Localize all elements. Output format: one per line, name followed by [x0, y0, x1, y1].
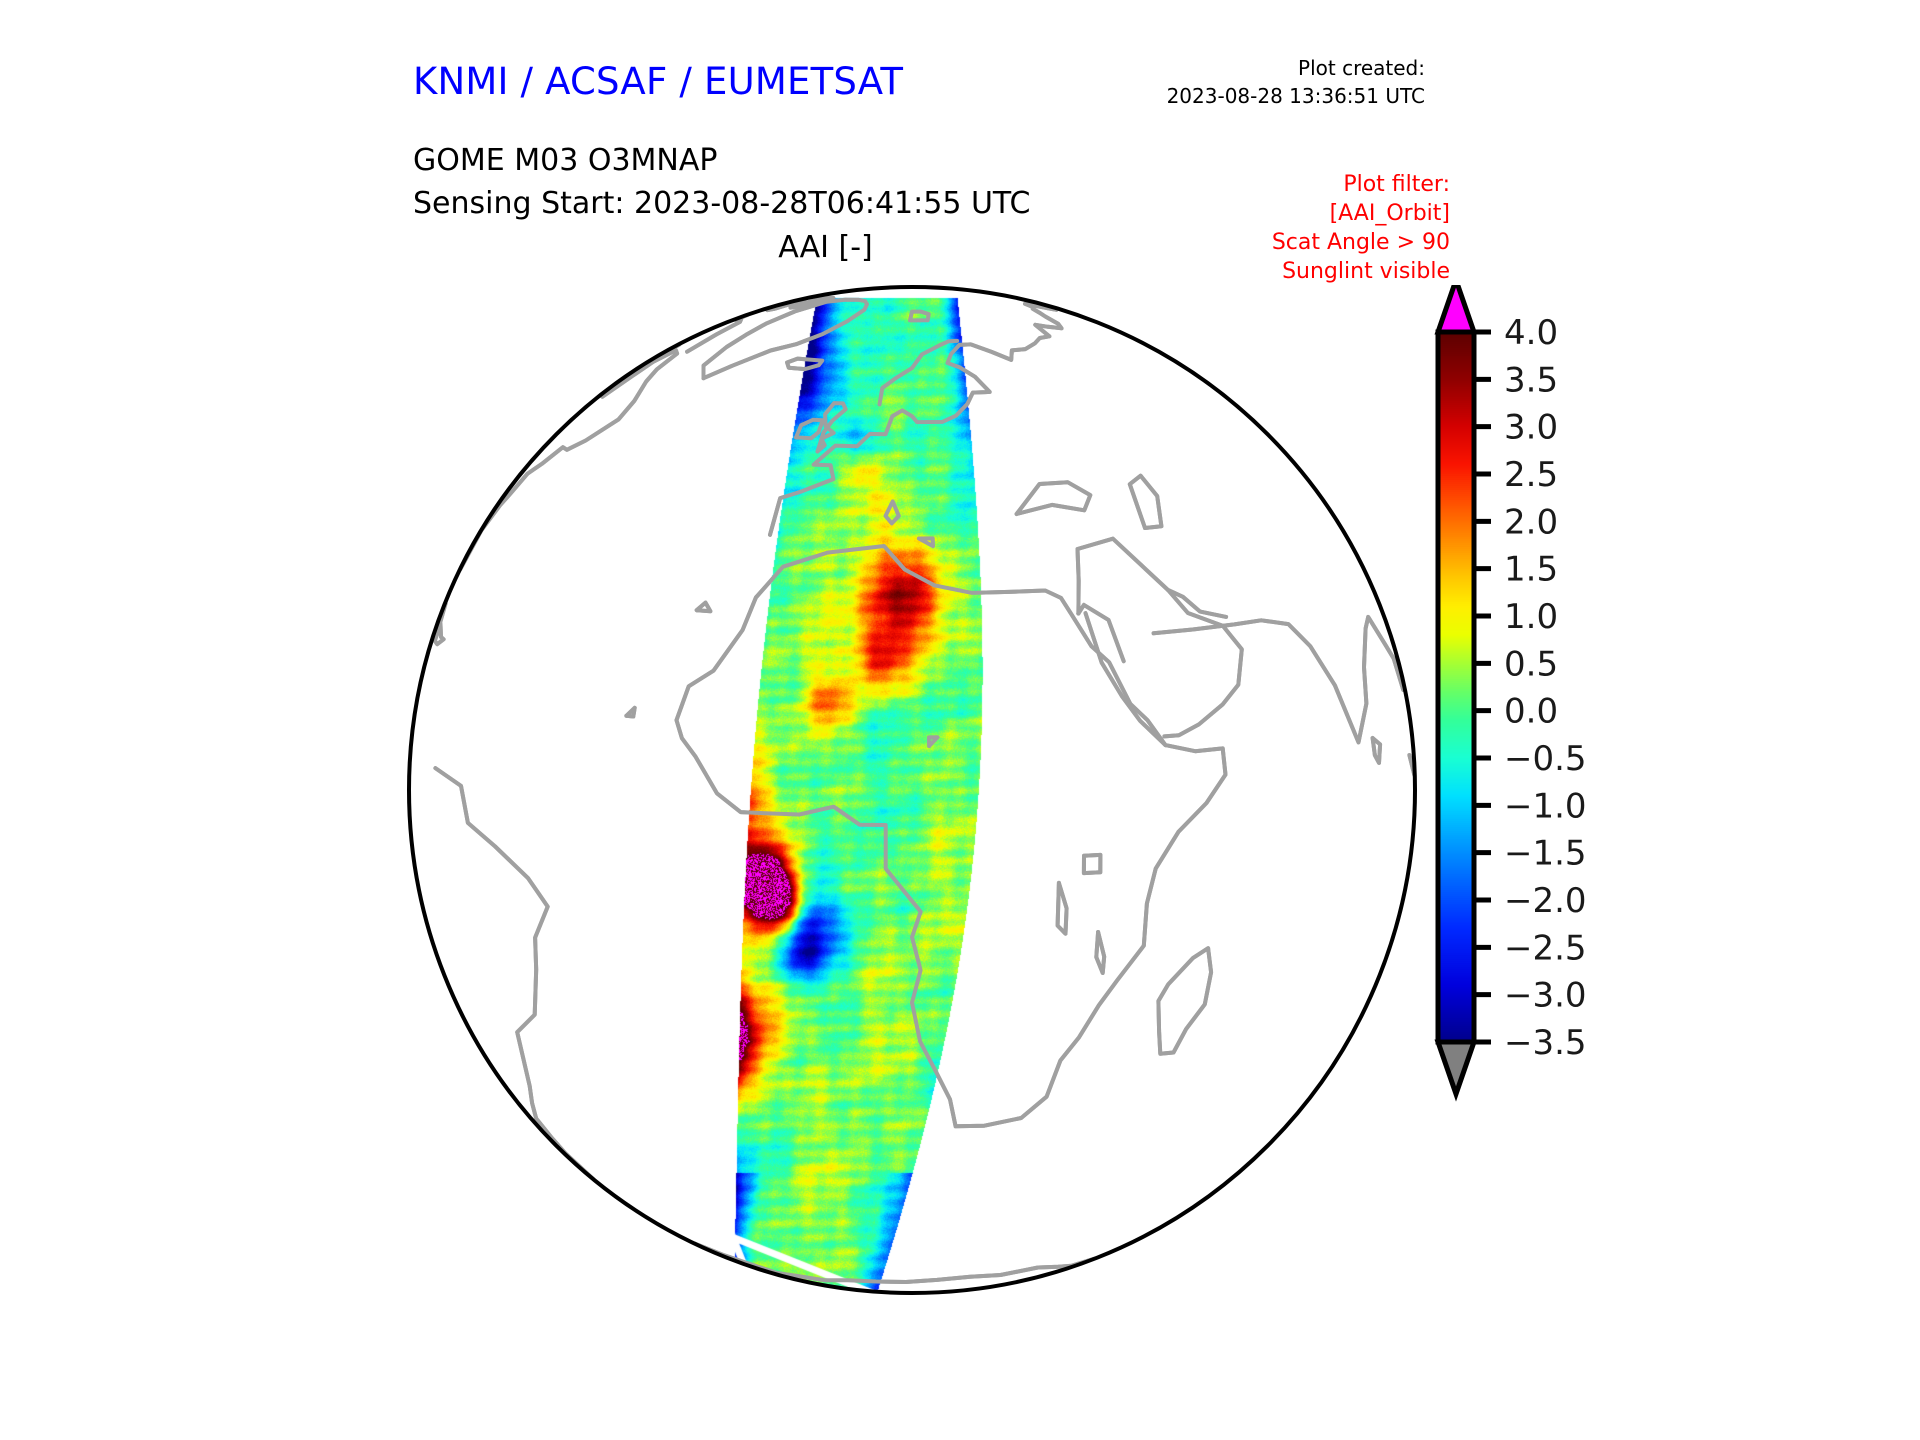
colorbar-tick-label: 2.0: [1504, 502, 1558, 542]
colorbar-tick-label: −1.5: [1504, 834, 1587, 874]
dataset-name: GOME M03 O3MNAP: [413, 140, 1030, 183]
quantity-title: AAI [-]: [413, 230, 1238, 265]
colorbar-svg: 4.03.53.02.52.01.51.00.50.0−0.5−1.0−1.5−…: [1430, 285, 1760, 1330]
plot-filter-scat-angle: Scat Angle > 90: [1272, 228, 1450, 257]
plot-created-block: Plot created: 2023-08-28 13:36:51 UTC: [1167, 55, 1425, 110]
colorbar-over-arrow: [1438, 285, 1474, 332]
dataset-block: GOME M03 O3MNAP Sensing Start: 2023-08-2…: [413, 140, 1030, 225]
colorbar-tick-label: 4.0: [1504, 313, 1558, 353]
colorbar-tick-label: −3.5: [1504, 1023, 1587, 1063]
sensing-start: Sensing Start: 2023-08-28T06:41:55 UTC: [413, 183, 1030, 226]
plot-created-time: 2023-08-28 13:36:51 UTC: [1167, 83, 1425, 111]
colorbar-tick-label: −3.0: [1504, 976, 1587, 1016]
plot-filter-label: Plot filter:: [1272, 170, 1450, 199]
aai-swath-raster: [380, 270, 1440, 1330]
colorbar-tick-label: 2.5: [1504, 455, 1558, 495]
plot-created-label: Plot created:: [1167, 55, 1425, 83]
colorbar-tick-label: 0.5: [1504, 644, 1558, 684]
globe-map: [380, 270, 1440, 1330]
organisations-title: KNMI / ACSAF / EUMETSAT: [413, 60, 903, 103]
colorbar-tick-label: −2.0: [1504, 881, 1587, 921]
colorbar-tick-label: 1.5: [1504, 550, 1558, 590]
colorbar-under-arrow: [1438, 1042, 1474, 1094]
colorbar: 4.03.53.02.52.01.51.00.50.0−0.5−1.0−1.5−…: [1430, 285, 1760, 1330]
colorbar-tick-label: −2.5: [1504, 928, 1587, 968]
colorbar-tick-label: 0.0: [1504, 692, 1558, 732]
colorbar-tick-label: 3.0: [1504, 408, 1558, 448]
plot-filter-block: Plot filter: [AAI_Orbit] Scat Angle > 90…: [1272, 170, 1450, 286]
globe-svg: [380, 270, 1440, 1330]
plot-page: KNMI / ACSAF / EUMETSAT Plot created: 20…: [0, 0, 1920, 1440]
colorbar-tick-label: −1.0: [1504, 786, 1587, 826]
colorbar-tick-label: 3.5: [1504, 360, 1558, 400]
colorbar-tick-label: −0.5: [1504, 739, 1587, 779]
colorbar-tick-label: 1.0: [1504, 597, 1558, 637]
plot-filter-name: [AAI_Orbit]: [1272, 199, 1450, 228]
